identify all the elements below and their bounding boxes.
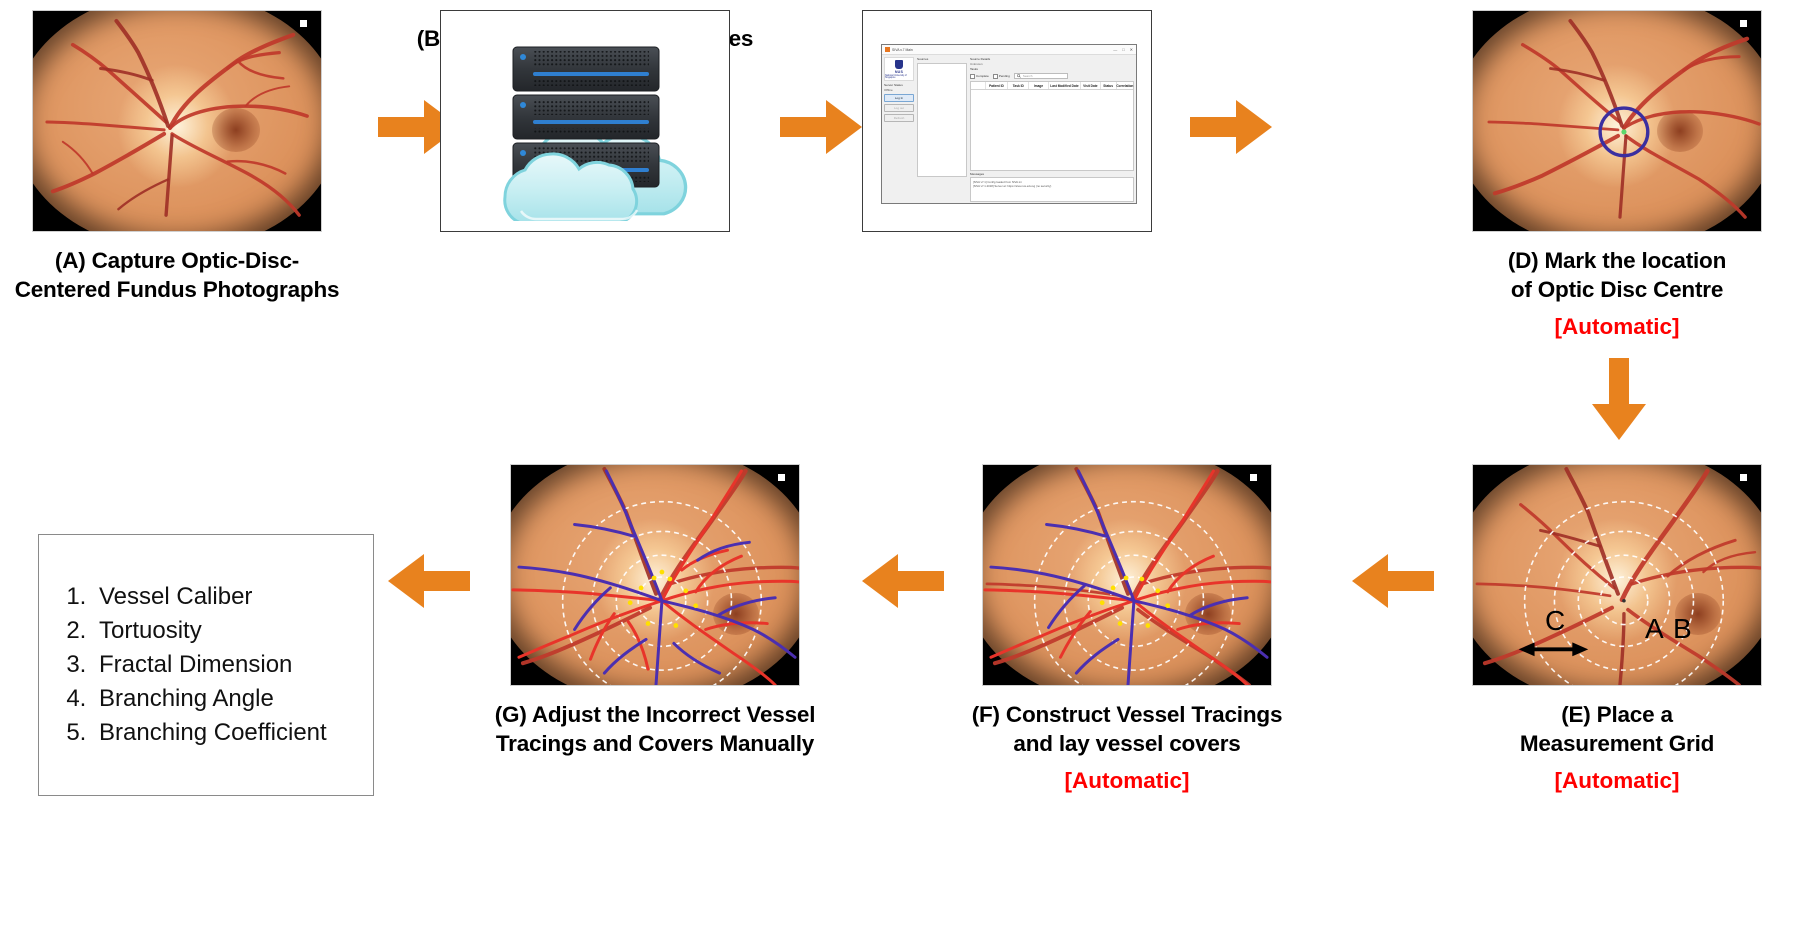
- server-unit-top: [513, 47, 659, 91]
- vascular-parameter-list: Vessel Caliber Tortuosity Fractal Dimens…: [38, 534, 374, 796]
- th-visit-date[interactable]: Visit Date: [1081, 82, 1100, 89]
- vessel-overlay: [33, 11, 321, 231]
- zone-c-double-arrow: [1519, 642, 1589, 656]
- server-status-value: Offline: [884, 88, 914, 92]
- filter-pending-label: Pending: [999, 74, 1010, 78]
- zone-c-label: C: [1545, 605, 1565, 637]
- source-details-value: Unknown: [970, 62, 1134, 66]
- siva-messages-panel: Messages [SIVA v7.1] Config loaded from …: [970, 172, 1134, 202]
- tasks-table-body[interactable]: [971, 90, 1133, 170]
- filter-pending-checkbox[interactable]: Pending: [993, 74, 1010, 79]
- th-status[interactable]: Status: [1101, 82, 1117, 89]
- list-item: Branching Angle: [93, 682, 327, 716]
- fundus-with-vessel-tracings: [982, 464, 1272, 686]
- zone-b-label: B: [1673, 613, 1692, 645]
- grid-and-vessel-overlay: [1473, 465, 1761, 685]
- step-d-automatic-badge: [Automatic]: [1439, 314, 1795, 340]
- arrow-c-to-d: [1190, 98, 1272, 156]
- siva-details-panel: Source Details Unknown Tasks Complete Pe…: [970, 57, 1134, 202]
- list-item: Tortuosity: [93, 614, 327, 648]
- server-unit-middle: [513, 95, 659, 139]
- siva-application-window[interactable]: SIVA v.7 Main — □ ✕ NUS National Univers…: [881, 44, 1137, 204]
- vessel-overlay: [1473, 11, 1761, 231]
- tasks-filter-row: Complete Pending Se: [970, 73, 1134, 79]
- arrow-b-to-c: [780, 98, 862, 156]
- th-correlation[interactable]: Correlation: [1117, 82, 1133, 89]
- step-d-image: (D) Mark the location of Optic Disc Cent…: [1472, 10, 1762, 232]
- th-select: [971, 82, 986, 89]
- tasks-table[interactable]: Patient ID Task ID Image Last Modified D…: [970, 81, 1134, 171]
- nus-logo-subtitle: National University of Singapore: [885, 75, 913, 79]
- siva-sidebar: NUS National University of Singapore Ser…: [884, 57, 914, 202]
- step-h-image: Vessel Caliber Tortuosity Fractal Dimens…: [38, 534, 374, 796]
- filter-complete-label: Complete: [976, 74, 989, 78]
- search-placeholder: Search: [1023, 74, 1033, 78]
- zone-a-label: A: [1645, 613, 1664, 645]
- arrow-f-to-g: [862, 552, 944, 610]
- close-icon[interactable]: ✕: [1130, 47, 1133, 52]
- search-icon: [1017, 74, 1021, 78]
- siva-sources-panel: Sources: [917, 57, 967, 202]
- step-c-image: SIVA v.7 Main — □ ✕ NUS National Univers…: [862, 10, 1152, 232]
- task-search-input[interactable]: Search: [1014, 73, 1068, 79]
- step-b-image: (B) Upload the Captured Images to the Cl…: [440, 10, 730, 232]
- step-g-caption: (G) Adjust the Incorrect Vessel Tracings…: [440, 700, 870, 759]
- cloud-server-illustration: [440, 10, 730, 232]
- nus-logo: NUS National University of Singapore: [884, 57, 914, 81]
- tracing-overlay: [511, 465, 799, 685]
- sources-listbox[interactable]: [917, 63, 967, 177]
- sources-label: Sources: [917, 57, 967, 61]
- siva-app-icon: [885, 47, 890, 52]
- source-details-label: Source Details: [970, 57, 1134, 61]
- arrow-g-to-h: [388, 552, 470, 610]
- fundus-photograph: [32, 10, 322, 232]
- step-g-image: (G) Adjust the Incorrect Vessel Tracings…: [510, 464, 800, 686]
- list-item: Vessel Caliber: [93, 580, 327, 614]
- fundus-with-adjusted-tracings: [510, 464, 800, 686]
- th-patient-id[interactable]: Patient ID: [986, 82, 1009, 89]
- siva-window-title: SIVA v.7 Main: [892, 48, 913, 52]
- workflow-figure: (A) Capture Optic-Disc- Centered Fundus …: [0, 0, 1800, 938]
- step-e-caption: (E) Place a Measurement Grid: [1467, 700, 1767, 759]
- refresh-button[interactable]: Refresh: [884, 114, 914, 122]
- checkbox-icon: [993, 74, 998, 79]
- th-image[interactable]: Image: [1029, 82, 1048, 89]
- message-line: [SIVA v7.1.2018] Server at: https://siva…: [973, 184, 1131, 188]
- step-e-image: C A B (E) Place a Measurement Grid [Auto…: [1472, 464, 1762, 686]
- fundus-with-optic-disc-circle: [1472, 10, 1762, 232]
- nus-crest-icon: [895, 60, 903, 69]
- tasks-label: Tasks: [970, 67, 1134, 71]
- checkbox-icon: [970, 74, 975, 79]
- messages-log[interactable]: [SIVA v7.1] Config loaded from SIVA.ini …: [970, 177, 1134, 202]
- th-task-id[interactable]: Task ID: [1008, 82, 1029, 89]
- step-f-caption: (F) Construct Vessel Tracings and lay ve…: [912, 700, 1342, 759]
- login-button[interactable]: Log In: [884, 94, 914, 102]
- fundus-with-measurement-grid: C A B: [1472, 464, 1762, 686]
- step-d-caption: (D) Mark the location of Optic Disc Cent…: [1439, 246, 1795, 305]
- parameter-list: Vessel Caliber Tortuosity Fractal Dimens…: [39, 580, 327, 750]
- vein-tracings: [519, 471, 795, 685]
- step-a-image: (A) Capture Optic-Disc- Centered Fundus …: [32, 10, 322, 232]
- filter-complete-checkbox[interactable]: Complete: [970, 74, 989, 79]
- messages-label: Messages: [970, 172, 1134, 176]
- list-item: Branching Coefficient: [93, 716, 327, 750]
- siva-screenshot-frame: SIVA v.7 Main — □ ✕ NUS National Univers…: [862, 10, 1152, 232]
- logout-button[interactable]: Log out: [884, 104, 914, 112]
- step-f-automatic-badge: [Automatic]: [912, 768, 1342, 794]
- step-e-automatic-badge: [Automatic]: [1467, 768, 1767, 794]
- tasks-table-header: Patient ID Task ID Image Last Modified D…: [971, 82, 1133, 90]
- step-f-image: (F) Construct Vessel Tracings and lay ve…: [982, 464, 1272, 686]
- vein-tracings: [991, 471, 1267, 685]
- step-a-caption: (A) Capture Optic-Disc- Centered Fundus …: [1, 246, 353, 305]
- siva-title-bar[interactable]: SIVA v.7 Main — □ ✕: [882, 45, 1136, 55]
- minimize-icon[interactable]: —: [1113, 47, 1117, 52]
- th-last-modified[interactable]: Last Modified Date: [1049, 82, 1081, 89]
- list-item: Fractal Dimension: [93, 648, 327, 682]
- arrow-d-to-e: [1590, 358, 1648, 440]
- server-status-label: Server Status: [884, 83, 914, 87]
- nus-logo-name: NUS: [895, 70, 903, 74]
- arrow-e-to-f: [1352, 552, 1434, 610]
- tracing-overlay: [983, 465, 1271, 685]
- maximize-icon[interactable]: □: [1122, 47, 1124, 52]
